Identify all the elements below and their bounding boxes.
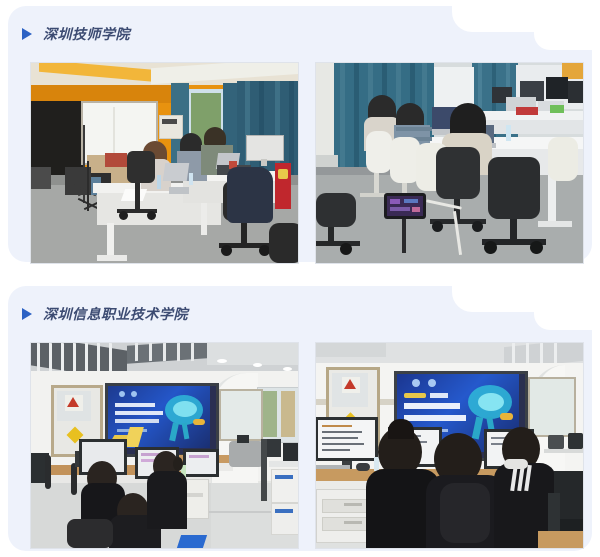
panel-notch-upper (452, 286, 592, 312)
section-header[interactable]: 深圳技师学院 (0, 6, 130, 62)
photo-row (30, 62, 584, 264)
panel-notch-lower (534, 312, 592, 330)
photo-smart-lab-close[interactable] (315, 342, 584, 549)
panel-notch-upper (452, 6, 592, 32)
photo-classroom-orange-wall[interactable] (30, 62, 299, 264)
photo-smart-lab-wide[interactable] (30, 342, 299, 549)
photo-row (30, 342, 584, 549)
section-shenzhen-technician-college: 深圳技师学院 (0, 6, 600, 268)
page-root: 深圳技师学院 (0, 0, 600, 557)
play-triangle-icon (22, 308, 32, 320)
photo-lab-teal-curtain[interactable] (315, 62, 584, 264)
section-shenzhen-institute-of-information-technology: 深圳信息职业技术学院 (0, 286, 600, 557)
panel-notch-lower (534, 32, 592, 50)
section-header[interactable]: 深圳信息职业技术学院 (0, 286, 188, 342)
section-title: 深圳信息职业技术学院 (43, 304, 188, 324)
section-title: 深圳技师学院 (43, 24, 130, 44)
play-triangle-icon (22, 28, 32, 40)
